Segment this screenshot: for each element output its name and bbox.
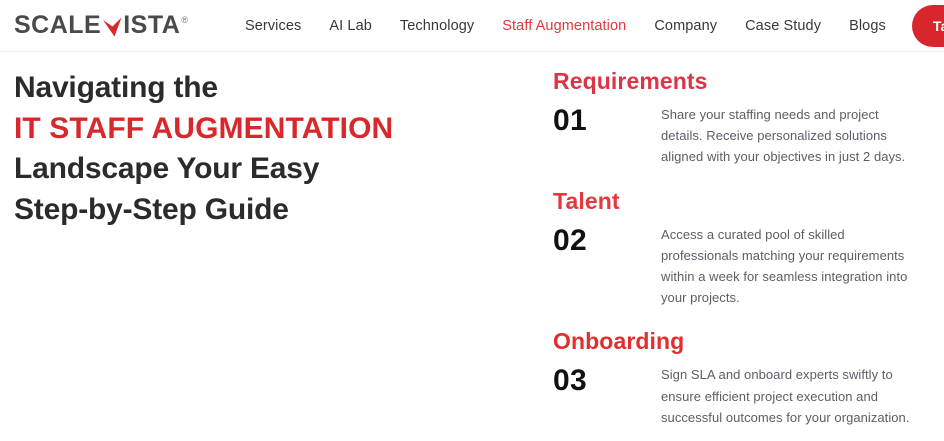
step-title-talent: Talent: [553, 188, 944, 215]
step-number-03: 03: [553, 364, 661, 399]
step-title-requirements: Requirements: [553, 68, 944, 95]
step-body: 01 Share your staffing needs and project…: [553, 104, 944, 168]
step-body: 03 Sign SLA and onboard experts swiftly …: [553, 364, 944, 428]
headline-line-2-accent: IT STAFF AUGMENTATION: [14, 109, 540, 150]
nav-item-company[interactable]: Company: [654, 18, 717, 34]
step-title-onboarding: Onboarding: [553, 328, 944, 355]
main-navigation: Services AI Lab Technology Staff Augment…: [245, 18, 886, 34]
nav-item-technology[interactable]: Technology: [400, 18, 474, 34]
nav-item-blogs[interactable]: Blogs: [849, 18, 886, 34]
talk-to-experts-button[interactable]: Talk To Experts: [912, 5, 944, 47]
red-chevron-mark-icon: [102, 16, 123, 38]
page-title: Navigating the IT STAFF AUGMENTATION Lan…: [14, 68, 540, 230]
brand-logo[interactable]: SCALE ISTA ®: [14, 13, 188, 38]
page-main: Navigating the IT STAFF AUGMENTATION Lan…: [0, 52, 944, 441]
step-description-02: Access a curated pool of skilled profess…: [661, 224, 923, 309]
nav-item-services[interactable]: Services: [245, 18, 301, 34]
headline-line-3: Landscape Your Easy: [14, 149, 540, 190]
step-description-01: Share your staffing needs and project de…: [661, 104, 923, 168]
brand-name-part1: SCALE: [14, 13, 101, 38]
step-item-requirements: Requirements 01 Share your staffing need…: [553, 68, 944, 168]
step-body: 02 Access a curated pool of skilled prof…: [553, 224, 944, 309]
step-item-onboarding: Onboarding 03 Sign SLA and onboard exper…: [553, 328, 944, 428]
step-number-02: 02: [553, 224, 661, 259]
steps-column: Requirements 01 Share your staffing need…: [540, 68, 944, 441]
step-item-talent: Talent 02 Access a curated pool of skill…: [553, 188, 944, 309]
step-number-01: 01: [553, 104, 661, 139]
hero-left-column: Navigating the IT STAFF AUGMENTATION Lan…: [0, 68, 540, 441]
nav-item-ai-lab[interactable]: AI Lab: [329, 18, 372, 34]
headline-line-4: Step-by-Step Guide: [14, 190, 540, 231]
nav-item-case-study[interactable]: Case Study: [745, 18, 821, 34]
nav-item-staff-augmentation[interactable]: Staff Augmentation: [502, 18, 626, 34]
brand-logo-text: SCALE ISTA: [14, 13, 180, 38]
brand-name-part2: ISTA: [123, 13, 180, 38]
step-description-03: Sign SLA and onboard experts swiftly to …: [661, 364, 923, 428]
site-header: SCALE ISTA ® Services AI Lab Technology …: [0, 0, 944, 52]
registered-trademark-icon: ®: [181, 16, 188, 25]
talk-to-experts-label: Talk To Experts: [933, 18, 944, 34]
headline-line-1: Navigating the: [14, 68, 540, 109]
